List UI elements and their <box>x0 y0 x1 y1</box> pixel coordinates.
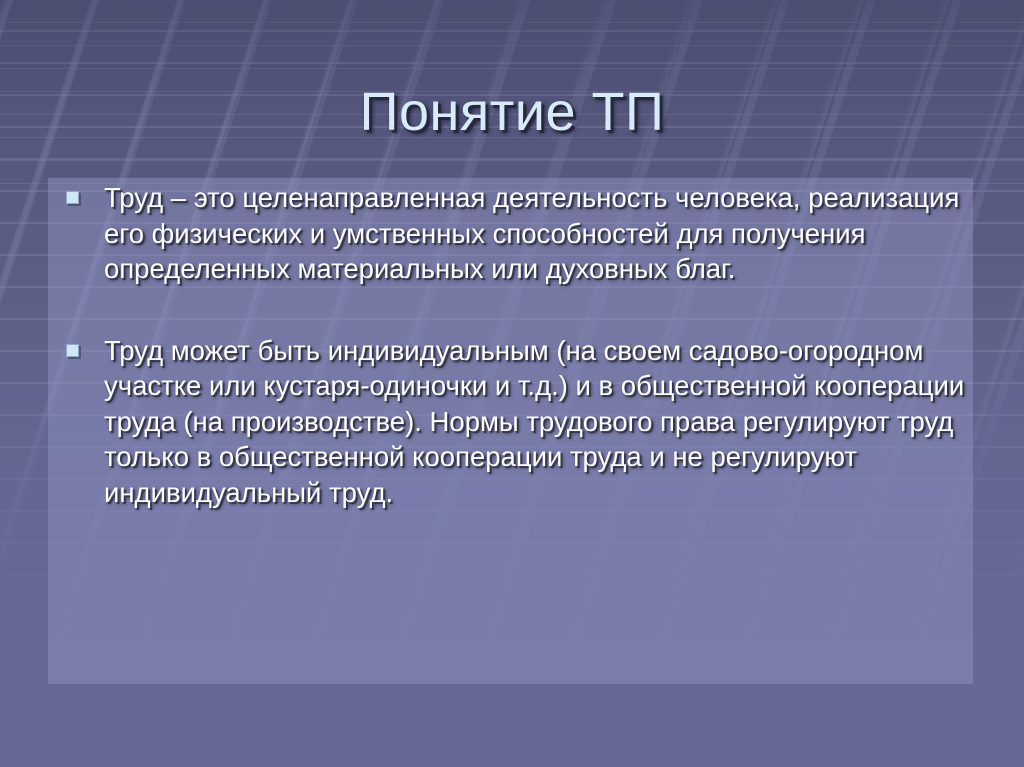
presentation-slide: Понятие ТП Труд – это целенаправленная д… <box>0 0 1024 767</box>
bullet-item-text: Труд – это целенаправленная деятельность… <box>104 180 966 287</box>
square-bullet-icon <box>66 344 79 357</box>
bullet-list: Труд – это целенаправленная деятельность… <box>56 180 966 510</box>
slide-title: Понятие ТП <box>0 84 1024 141</box>
bullet-item-2: Труд может быть индивидуальным (на своем… <box>56 333 966 511</box>
square-bullet-icon <box>66 191 79 204</box>
bullet-item-1: Труд – это целенаправленная деятельность… <box>56 180 966 287</box>
bullet-item-text: Труд может быть индивидуальным (на своем… <box>104 333 966 511</box>
